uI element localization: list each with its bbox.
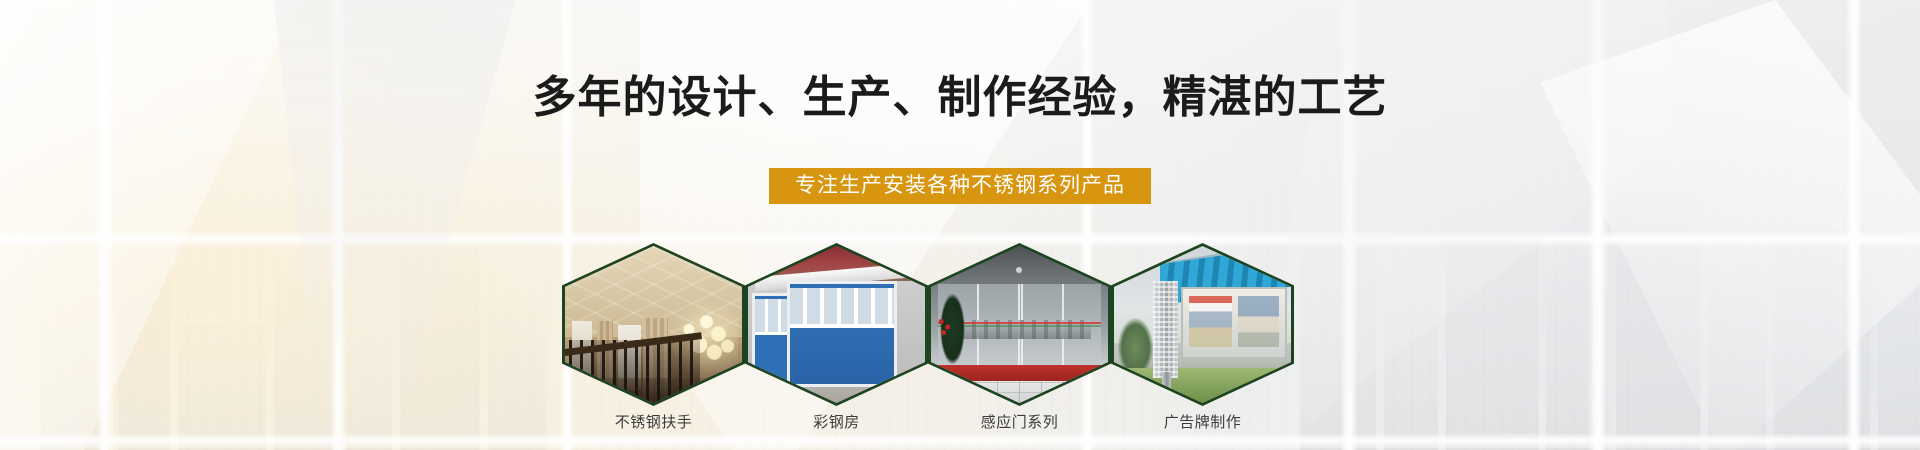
product-label: 广告牌制作 — [1111, 413, 1294, 433]
hexagon-image-clip — [565, 246, 742, 403]
hexagon-image-clip — [748, 246, 925, 403]
banner-headline: 多年的设计、生产、制作经验，精湛的工艺 — [0, 72, 1920, 124]
hexagon-frame — [745, 243, 928, 406]
product-label: 感应门系列 — [928, 413, 1111, 433]
hexagon-frame — [928, 243, 1111, 406]
banner-subtitle-badge: 专注生产安装各种不锈钢系列产品 — [769, 168, 1151, 204]
promo-banner: 多年的设计、生产、制作经验，精湛的工艺 专注生产安装各种不锈钢系列产品 — [0, 0, 1920, 450]
banner-subtitle-row: 专注生产安装各种不锈钢系列产品 — [0, 168, 1920, 204]
product-item-handrail[interactable]: 不锈钢扶手 — [562, 243, 745, 443]
hexagon-frame — [1111, 243, 1294, 406]
hexagon-frame — [562, 243, 745, 406]
product-label: 不锈钢扶手 — [562, 413, 745, 433]
billboard-fabrication-photo — [1114, 246, 1291, 403]
product-item-guard-house[interactable]: 彩钢房 — [745, 243, 928, 443]
product-item-sensor-door[interactable]: 感应门系列 — [928, 243, 1111, 443]
stainless-steel-handrail-photo — [565, 246, 742, 403]
product-hexagon-row: 不锈钢扶手 彩钢房 — [562, 243, 1290, 443]
product-label: 彩钢房 — [745, 413, 928, 433]
hexagon-image-clip — [1114, 246, 1291, 403]
product-item-billboard[interactable]: 广告牌制作 — [1111, 243, 1294, 443]
automatic-sensor-door-photo — [931, 246, 1108, 403]
color-steel-guard-house-photo — [748, 246, 925, 403]
hexagon-image-clip — [931, 246, 1108, 403]
